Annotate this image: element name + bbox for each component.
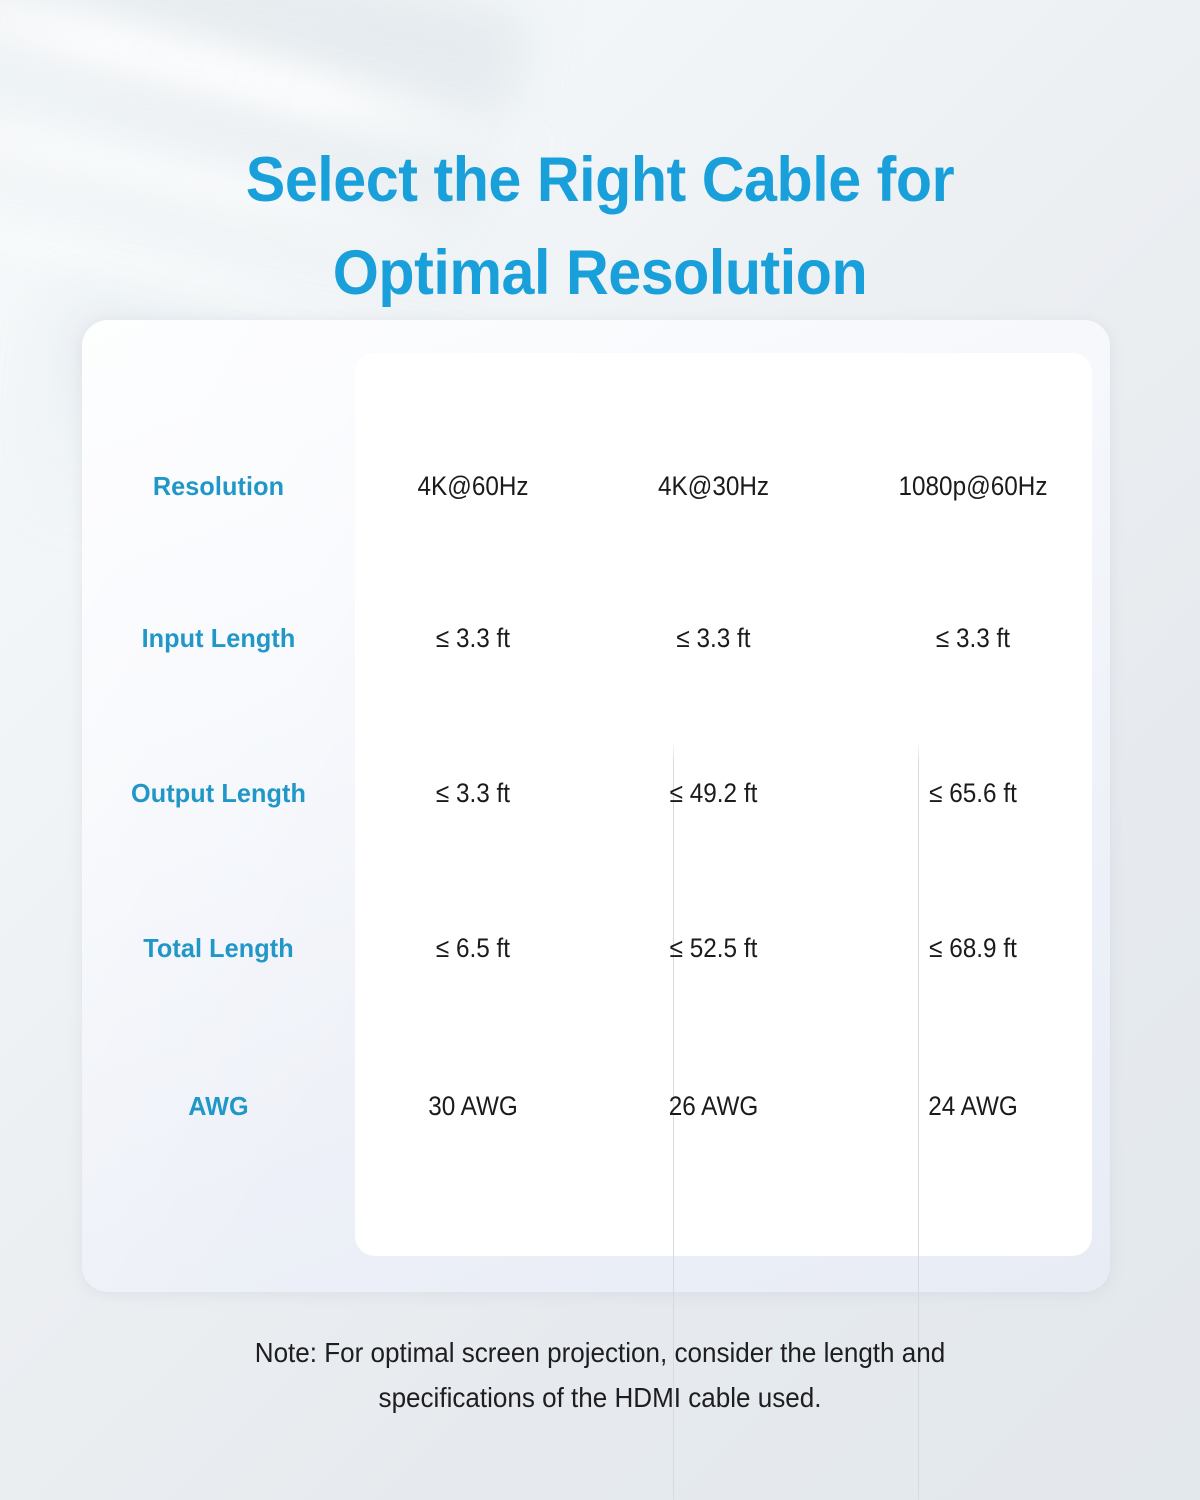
footer-note: Note: For optimal screen projection, con… [42, 1330, 1158, 1420]
cell-total-length-col1: ≤ 6.5 ft [367, 933, 579, 964]
cell-output-length-col1: ≤ 3.3 ft [367, 778, 579, 809]
cell-awg-col1: 30 AWG [367, 1091, 579, 1122]
row-label-resolution: Resolution [86, 471, 351, 502]
row-label-total-length: Total Length [86, 933, 351, 964]
cell-awg-col2: 26 AWG [603, 1091, 824, 1122]
cell-resolution-col2: 4K@30Hz [603, 471, 824, 502]
table-row: Total Length ≤ 6.5 ft ≤ 52.5 ft ≤ 68.9 f… [82, 918, 1110, 978]
page-title: Select the Right Cable for Optimal Resol… [36, 134, 1164, 320]
infographic-page: Select the Right Cable for Optimal Resol… [0, 0, 1200, 1500]
row-label-awg: AWG [86, 1091, 351, 1122]
cell-input-length-col2: ≤ 3.3 ft [603, 623, 824, 654]
table-row: Input Length ≤ 3.3 ft ≤ 3.3 ft ≤ 3.3 ft [82, 608, 1110, 668]
cell-input-length-col1: ≤ 3.3 ft [367, 623, 579, 654]
page-title-line-2: Optimal Resolution [36, 227, 1164, 320]
spec-table: Resolution 4K@60Hz 4K@30Hz 1080p@60Hz In… [82, 320, 1110, 1292]
cell-total-length-col2: ≤ 52.5 ft [603, 933, 824, 964]
row-label-output-length: Output Length [86, 778, 351, 809]
cell-output-length-col3: ≤ 65.6 ft [850, 778, 1097, 809]
cell-resolution-col3: 1080p@60Hz [850, 471, 1097, 502]
page-title-line-1: Select the Right Cable for [36, 134, 1164, 227]
footer-note-line-1: Note: For optimal screen projection, con… [42, 1330, 1158, 1375]
table-row: Output Length ≤ 3.3 ft ≤ 49.2 ft ≤ 65.6 … [82, 763, 1110, 823]
cell-output-length-col2: ≤ 49.2 ft [603, 778, 824, 809]
row-label-input-length: Input Length [86, 623, 351, 654]
cell-resolution-col1: 4K@60Hz [367, 471, 579, 502]
footer-note-line-2: specifications of the HDMI cable used. [42, 1375, 1158, 1420]
cell-awg-col3: 24 AWG [850, 1091, 1097, 1122]
cell-total-length-col3: ≤ 68.9 ft [850, 933, 1097, 964]
table-row: Resolution 4K@60Hz 4K@30Hz 1080p@60Hz [82, 456, 1110, 516]
table-row: AWG 30 AWG 26 AWG 24 AWG [82, 1076, 1110, 1136]
cell-input-length-col3: ≤ 3.3 ft [850, 623, 1097, 654]
